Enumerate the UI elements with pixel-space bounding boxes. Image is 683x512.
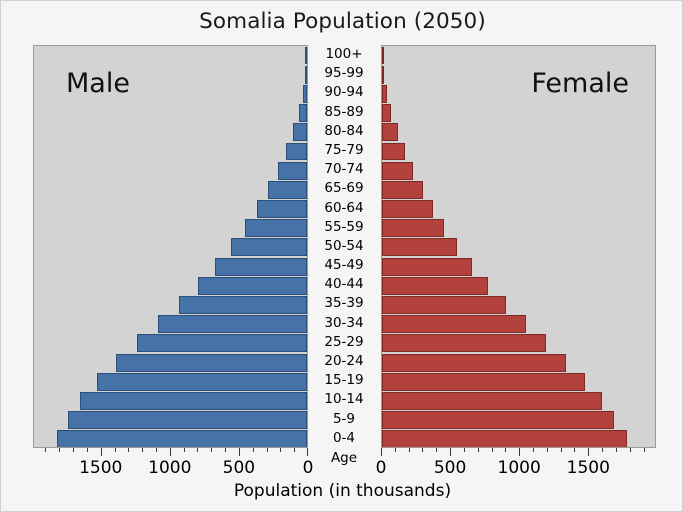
bar-female-40-44[interactable] [382,277,488,295]
age-label-75-79: 75-79 [308,141,380,160]
bar-row [34,334,307,353]
axis-tick [115,448,116,452]
bar-male-35-39[interactable] [179,296,307,314]
bar-row [382,123,655,142]
axis-tick [616,448,617,452]
age-label-10-14: 10-14 [308,390,380,409]
bar-row [34,276,307,295]
axis-tick [267,448,268,452]
bar-female-25-29[interactable] [382,334,546,352]
bar-row [34,84,307,103]
male-x-axis: 150010005000 [33,448,308,458]
page-title: Somalia Population (2050) [1,9,683,34]
bar-male-55-59[interactable] [245,219,307,237]
bar-row [34,200,307,219]
axis-tick [211,448,212,452]
bar-row [382,161,655,180]
bar-row [382,257,655,276]
age-label-0-4: 0-4 [308,429,380,448]
age-label-45-49: 45-49 [308,256,380,275]
axis-tick [464,448,465,452]
bar-female-65-69[interactable] [382,181,423,199]
axis-tick [73,448,74,452]
age-axis-caption: Age [308,448,380,468]
bar-female-90-94[interactable] [382,85,387,103]
bar-row [382,334,655,353]
age-label-90-94: 90-94 [308,83,380,102]
bar-female-20-24[interactable] [382,354,566,372]
bar-row [382,391,655,410]
bar-male-95-99[interactable] [305,66,307,84]
bar-row [382,238,655,257]
bar-row [382,180,655,199]
bar-row [34,104,307,123]
axis-tick [602,448,603,452]
age-label-95-99: 95-99 [308,64,380,83]
bar-male-5-9[interactable] [68,411,307,429]
bar-row [34,372,307,391]
bar-female-35-39[interactable] [382,296,506,314]
bar-female-95-99[interactable] [382,66,384,84]
bar-row [34,238,307,257]
axis-tick [294,448,295,452]
axis-tick [519,448,520,456]
bar-female-75-79[interactable] [382,143,405,161]
axis-tick [381,448,382,456]
bar-row [34,391,307,410]
bar-row [34,257,307,276]
bar-male-25-29[interactable] [137,334,307,352]
bar-row [34,142,307,161]
axis-tick [128,448,129,452]
bar-row [34,123,307,142]
tick-label-female-1500: 1500 [567,458,610,478]
bar-row [382,411,655,430]
female-bars-group [382,46,655,447]
bar-female-5-9[interactable] [382,411,614,429]
age-label-70-74: 70-74 [308,160,380,179]
bar-row [34,430,307,448]
bar-male-80-84[interactable] [293,123,307,141]
bar-female-55-59[interactable] [382,219,444,237]
bar-female-10-14[interactable] [382,392,602,410]
male-plot-panel: Male [33,45,308,448]
age-label-5-9: 5-9 [308,410,380,429]
bar-row [382,276,655,295]
tick-label-male-500: 500 [223,458,255,478]
bar-female-30-34[interactable] [382,315,526,333]
population-pyramid-figure: Somalia Population (2050) Male 100+95-99… [0,0,683,512]
age-label-35-39: 35-39 [308,294,380,313]
bar-male-40-44[interactable] [198,277,307,295]
bar-male-15-19[interactable] [97,373,307,391]
bar-row [34,315,307,334]
axis-tick [239,448,240,456]
age-label-100+: 100+ [308,45,380,64]
axis-tick [574,448,575,452]
axis-tick [184,448,185,452]
bar-row [34,411,307,430]
age-axis-labels: 100+95-9990-9485-8980-8475-7970-7465-696… [308,45,380,448]
bar-male-85-89[interactable] [299,104,307,122]
bar-male-50-54[interactable] [231,238,307,256]
bar-row [382,46,655,65]
axis-tick [478,448,479,452]
bar-male-100+[interactable] [305,47,307,65]
axis-tick [547,448,548,452]
age-label-50-54: 50-54 [308,237,380,256]
tick-label-female-500: 500 [434,458,466,478]
bar-row [382,315,655,334]
age-label-15-19: 15-19 [308,371,380,390]
bar-male-10-14[interactable] [80,392,307,410]
bar-male-0-4[interactable] [57,430,307,448]
bar-row [382,142,655,161]
tick-label-male-1500: 1500 [79,458,122,478]
axis-tick [505,448,506,452]
tick-label-female-0: 0 [376,458,387,478]
axis-tick [307,448,308,456]
bar-male-60-64[interactable] [257,200,307,218]
bar-row [34,295,307,314]
bar-row [34,353,307,372]
axis-tick [59,448,60,452]
axis-tick [630,448,631,452]
bar-row [34,180,307,199]
axis-tick [156,448,157,452]
bar-female-0-4[interactable] [382,430,627,448]
axis-tick [422,448,423,452]
bar-male-90-94[interactable] [303,85,307,103]
age-label-60-64: 60-64 [308,199,380,218]
axis-tick [533,448,534,452]
bar-row [382,353,655,372]
bar-row [34,46,307,65]
bar-female-80-84[interactable] [382,123,398,141]
bar-female-100+[interactable] [382,47,384,65]
bar-female-50-54[interactable] [382,238,457,256]
bar-male-65-69[interactable] [268,181,307,199]
bar-row [382,65,655,84]
age-label-85-89: 85-89 [308,103,380,122]
axis-tick [253,448,254,452]
bar-row [382,219,655,238]
axis-tick [87,448,88,452]
axis-tick [561,448,562,452]
tick-label-male-0: 0 [303,458,314,478]
bar-male-70-74[interactable] [278,162,307,180]
bar-row [382,430,655,448]
axis-tick [197,448,198,452]
age-label-40-44: 40-44 [308,275,380,294]
age-label-65-69: 65-69 [308,179,380,198]
axis-tick [588,448,589,456]
female-plot-panel: Female [381,45,656,448]
bar-female-60-64[interactable] [382,200,433,218]
bar-row [34,65,307,84]
bar-row [34,161,307,180]
bar-row [382,295,655,314]
axis-tick [101,448,102,456]
age-label-30-34: 30-34 [308,314,380,333]
axis-tick [280,448,281,452]
axis-tick [644,448,645,452]
bar-female-85-89[interactable] [382,104,391,122]
tick-label-male-1000: 1000 [148,458,191,478]
bar-row [382,372,655,391]
bar-female-15-19[interactable] [382,373,585,391]
age-label-25-29: 25-29 [308,333,380,352]
tick-label-female-1000: 1000 [498,458,541,478]
axis-tick [409,448,410,452]
bar-row [382,104,655,123]
axis-tick [45,448,46,452]
axis-tick [395,448,396,452]
bar-female-70-74[interactable] [382,162,413,180]
axis-tick [450,448,451,456]
axis-tick [225,448,226,452]
bar-male-45-49[interactable] [215,258,307,276]
axis-tick [492,448,493,452]
bar-row [34,219,307,238]
bar-male-20-24[interactable] [116,354,307,372]
female-x-axis: 050010001500 [381,448,656,458]
x-axis-label: Population (in thousands) [1,481,683,501]
bar-row [382,200,655,219]
bar-male-30-34[interactable] [158,315,307,333]
bar-male-75-79[interactable] [286,143,307,161]
age-label-20-24: 20-24 [308,352,380,371]
age-label-80-84: 80-84 [308,122,380,141]
bar-female-45-49[interactable] [382,258,472,276]
age-label-55-59: 55-59 [308,218,380,237]
male-bars-group [34,46,307,447]
axis-tick [142,448,143,452]
axis-tick [436,448,437,452]
bar-row [382,84,655,103]
axis-tick [170,448,171,456]
